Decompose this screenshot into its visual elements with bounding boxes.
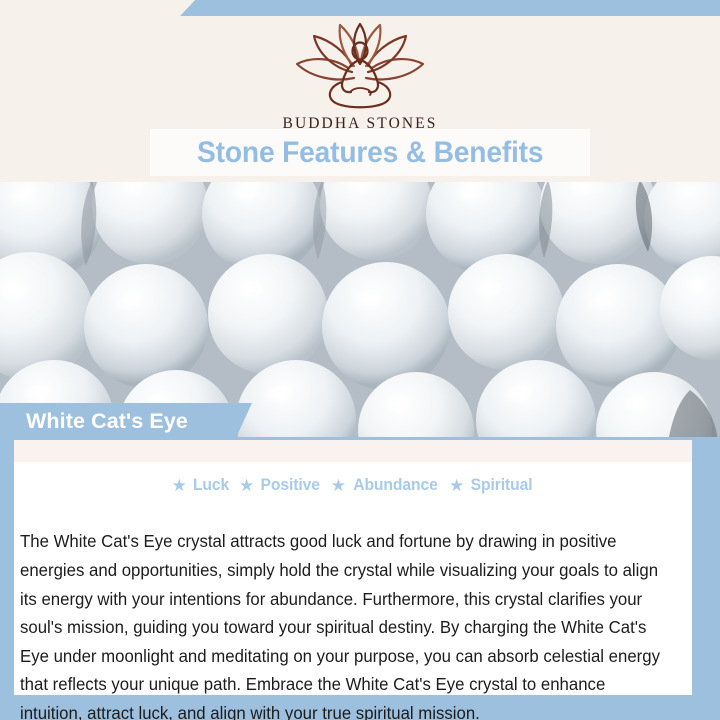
brand-logo: BUDDHA STONES [0,20,720,133]
star-icon: ★ [449,477,464,494]
keyword-luck: ★ Luck [172,476,230,495]
crystal-spheres-image [0,180,720,442]
lotus-meditation-icon [282,20,438,112]
stone-description: The White Cat's Eye crystal attracts goo… [20,527,672,720]
star-icon: ★ [331,477,346,494]
keyword-spiritual: ★ Spiritual [440,476,534,495]
stone-name: White Cat's Eye [26,409,188,434]
star-icon: ★ [172,477,187,494]
infographic-page: BUDDHA STONES Stone Features & Benefits [0,0,720,720]
star-icon: ★ [239,477,254,494]
keyword-list: ★ Luck ★ Positive ★ Abundance ★ Spiritua… [14,476,692,495]
page-title: Stone Features & Benefits [197,136,543,170]
stone-name-banner: White Cat's Eye [0,403,252,440]
keyword-abundance: ★ Abundance [322,476,440,495]
section-title-panel: Stone Features & Benefits [150,129,590,176]
keyword-label: Abundance [353,476,438,495]
keyword-label: Luck [193,476,229,495]
keyword-label: Positive [261,476,320,495]
keyword-label: Spiritual [471,476,533,495]
keyword-positive: ★ Positive [230,476,322,495]
product-photo [0,180,720,442]
panel-top-strip [14,440,692,462]
